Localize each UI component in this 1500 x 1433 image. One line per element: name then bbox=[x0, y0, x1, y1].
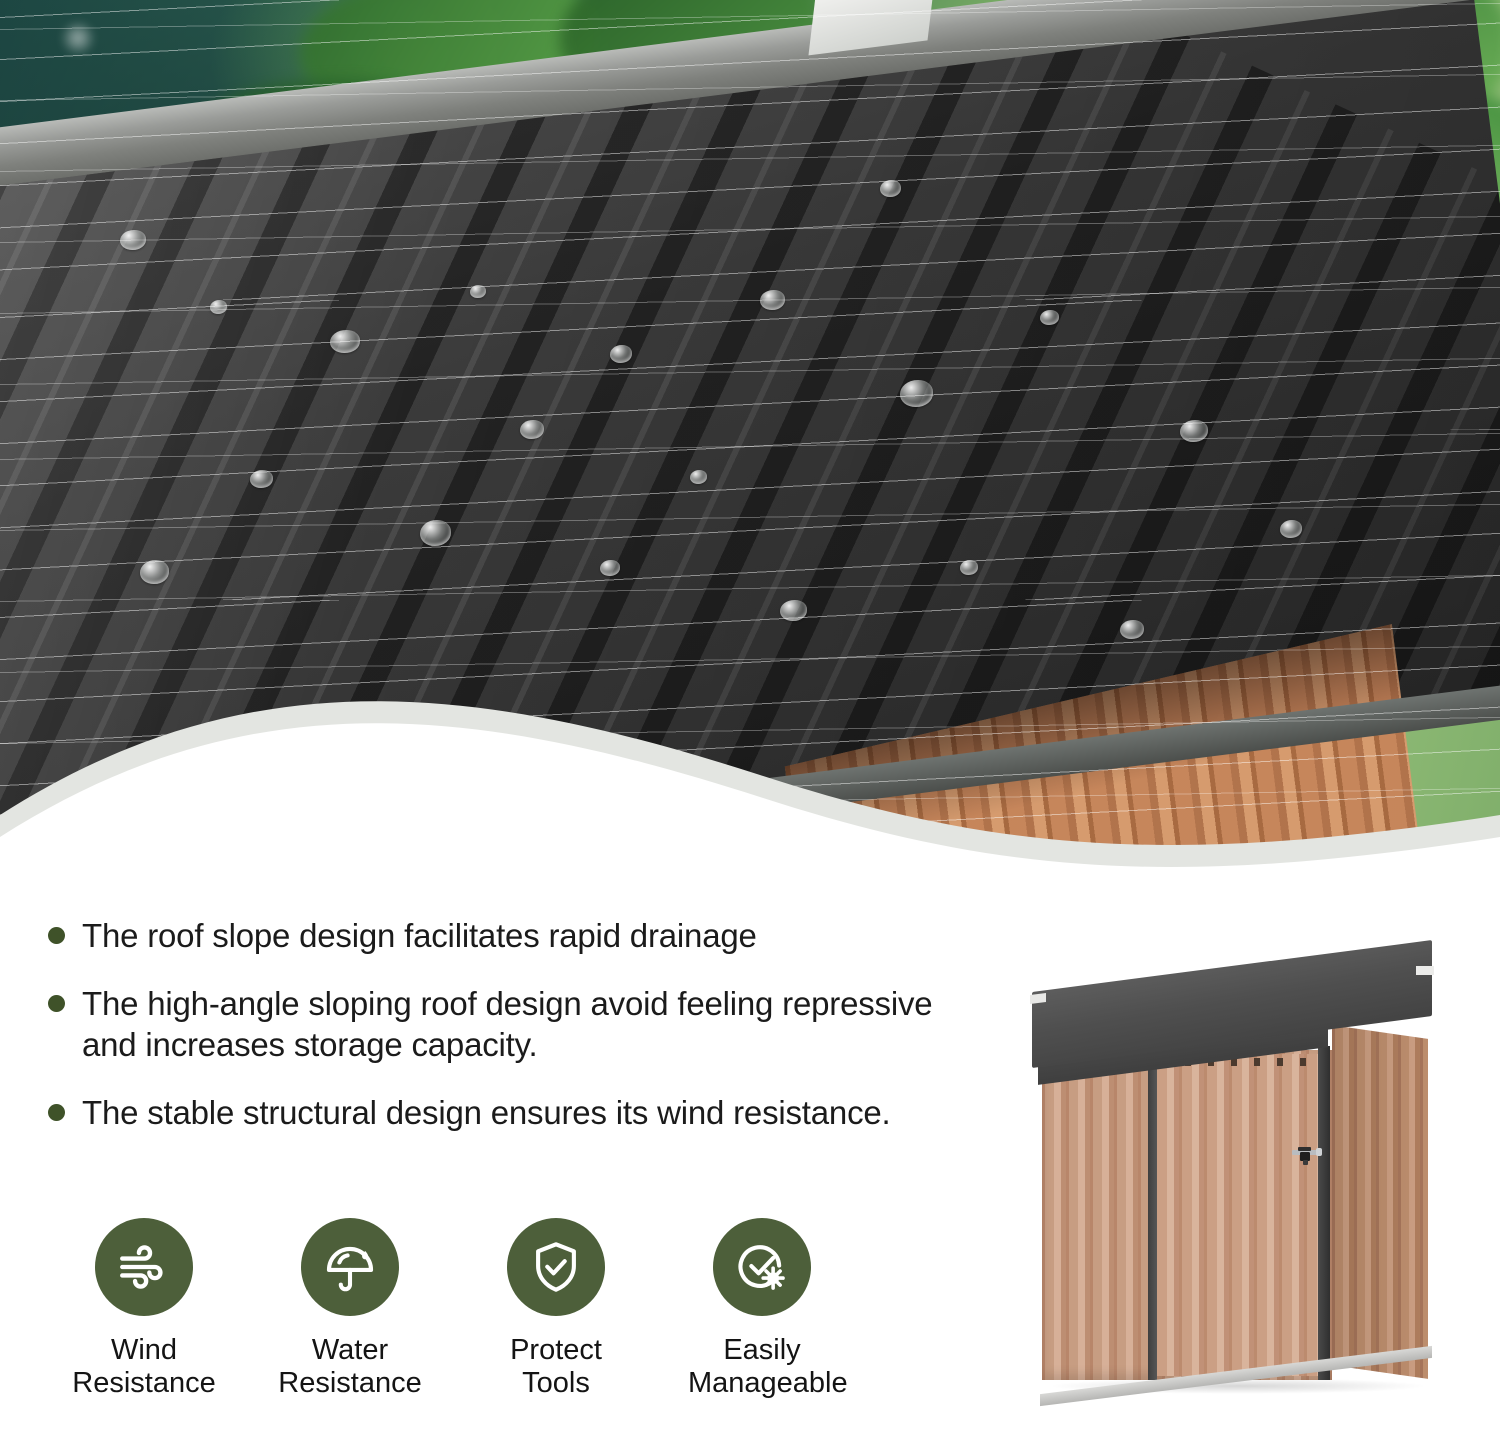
water-droplet bbox=[780, 600, 807, 621]
shed-door-latch-icon[interactable] bbox=[1290, 1144, 1324, 1166]
feature-label: Water Resistance bbox=[276, 1334, 424, 1401]
hero-photo bbox=[0, 0, 1500, 905]
water-droplet bbox=[250, 470, 273, 488]
wave-divider bbox=[0, 665, 1500, 905]
shed-door-frame-right bbox=[1318, 1046, 1330, 1380]
water-droplet bbox=[520, 420, 544, 439]
bullet-dot-icon bbox=[48, 927, 65, 944]
list-item: The stable structural design ensures its… bbox=[48, 1092, 978, 1134]
shed-door-frame-left bbox=[1148, 1050, 1157, 1380]
list-item: The roof slope design facilitates rapid … bbox=[48, 915, 978, 957]
water-droplet bbox=[610, 345, 632, 363]
water-droplet bbox=[880, 180, 901, 197]
water-droplet bbox=[140, 560, 169, 584]
manageable-badge bbox=[713, 1218, 811, 1316]
water-droplet bbox=[470, 285, 486, 298]
feature-label: Wind Resistance bbox=[70, 1334, 218, 1401]
water-droplet bbox=[120, 230, 146, 250]
protect-badge bbox=[507, 1218, 605, 1316]
wind-badge bbox=[95, 1218, 193, 1316]
water-droplet bbox=[1180, 420, 1208, 442]
bullet-text: The high-angle sloping roof design avoid… bbox=[82, 983, 978, 1066]
umbrella-rain-icon bbox=[321, 1238, 379, 1296]
water-droplet bbox=[1120, 620, 1144, 639]
bullet-dot-icon bbox=[48, 1104, 65, 1121]
water-droplet bbox=[1040, 310, 1059, 325]
bullet-dot-icon bbox=[48, 995, 65, 1012]
feature-water-resistance: Water Resistance bbox=[276, 1218, 424, 1401]
shed-side-shading bbox=[1332, 1025, 1428, 1379]
water-droplet bbox=[960, 560, 978, 575]
water-droplet bbox=[900, 380, 933, 407]
feature-badge-row: Wind Resistance Water Resistance Pro bbox=[70, 1218, 836, 1401]
water-droplet bbox=[1280, 520, 1302, 538]
water-droplet bbox=[600, 560, 620, 576]
list-item: The high-angle sloping roof design avoid… bbox=[48, 983, 978, 1066]
water-droplet bbox=[330, 330, 360, 353]
wind-icon bbox=[115, 1238, 173, 1296]
water-droplet bbox=[420, 520, 451, 546]
product-shed-image bbox=[1018, 958, 1458, 1408]
water-droplet bbox=[690, 470, 707, 484]
feature-bullet-list: The roof slope design facilitates rapid … bbox=[48, 915, 978, 1159]
feature-easily-manageable: Easily Manageable bbox=[688, 1218, 836, 1401]
feature-wind-resistance: Wind Resistance bbox=[70, 1218, 218, 1401]
shed-door[interactable] bbox=[1154, 1054, 1320, 1376]
shed-roof-cap-right bbox=[1416, 966, 1434, 975]
water-droplet bbox=[760, 290, 785, 310]
check-gear-icon bbox=[733, 1238, 791, 1296]
feature-protect-tools: Protect Tools bbox=[482, 1218, 630, 1401]
bullet-text: The stable structural design ensures its… bbox=[82, 1092, 891, 1134]
water-droplet bbox=[210, 300, 227, 314]
bullet-text: The roof slope design facilitates rapid … bbox=[82, 915, 757, 957]
shield-check-icon bbox=[527, 1238, 585, 1296]
feature-label: Easily Manageable bbox=[688, 1334, 836, 1401]
bokeh-5 bbox=[60, 20, 96, 56]
water-badge bbox=[301, 1218, 399, 1316]
feature-label: Protect Tools bbox=[482, 1334, 630, 1401]
